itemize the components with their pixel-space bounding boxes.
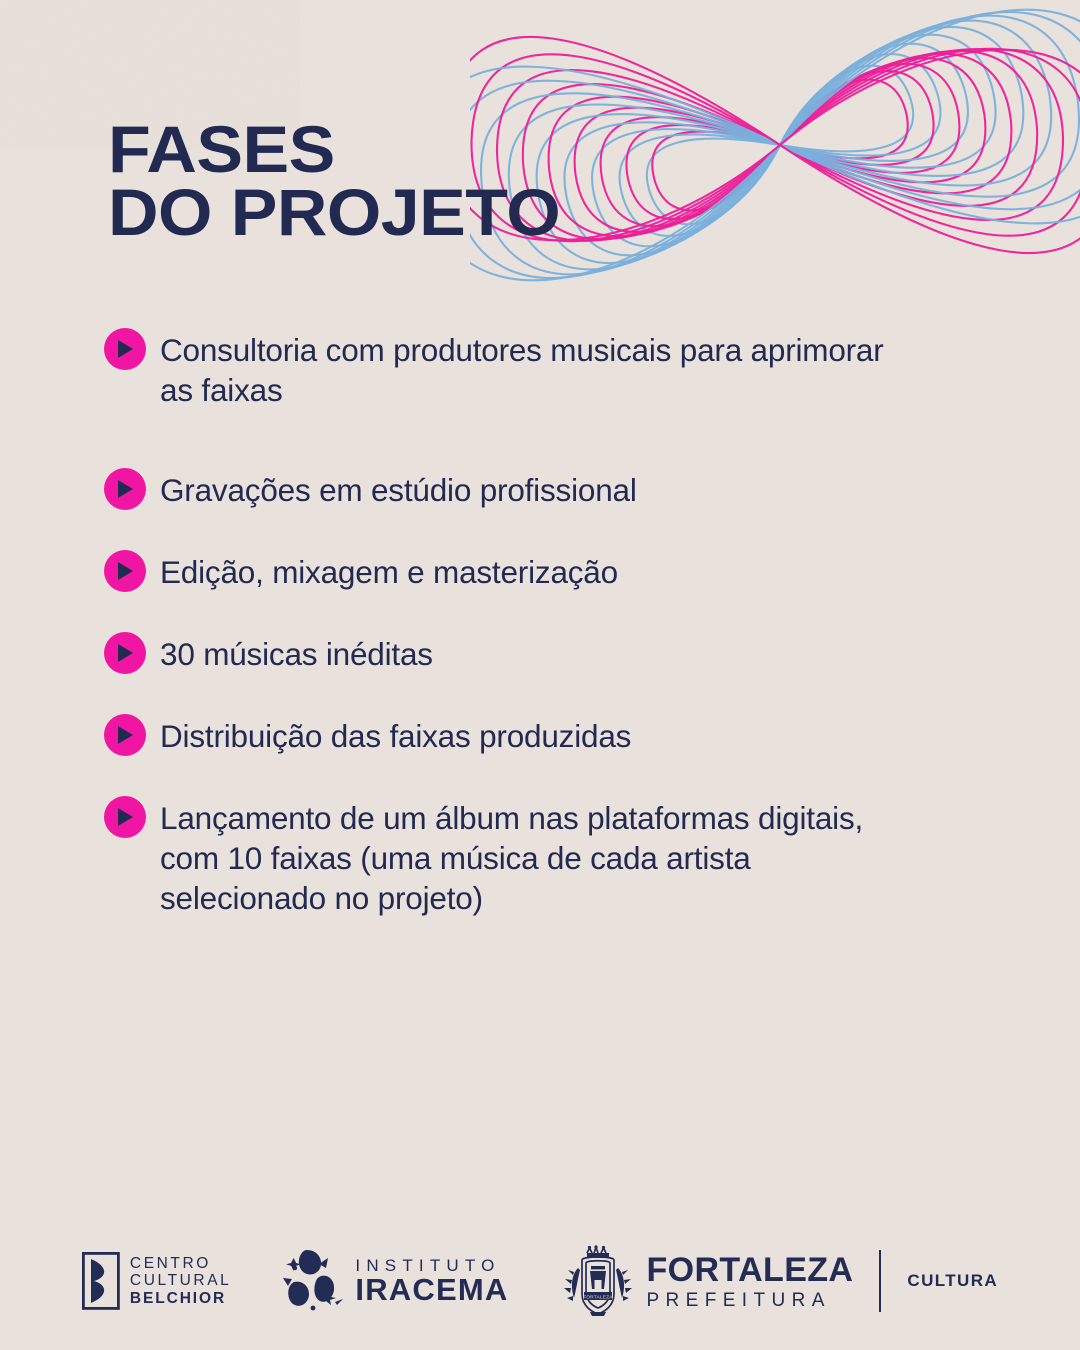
logo-instituto-iracema: INSTITUTO IRACEMA (283, 1246, 508, 1316)
phase-item[interactable]: Gravações em estúdio profissional (104, 466, 894, 510)
page-title: FASES DO PROJETO (108, 118, 535, 245)
phase-item[interactable]: Edição, mixagem e masterização (104, 548, 894, 592)
fortaleza-line-1: FORTALEZA (646, 1253, 853, 1287)
belchior-b-monogram-icon (82, 1252, 120, 1310)
phase-label: Edição, mixagem e masterização (160, 548, 618, 592)
footer-logos: CENTRO CULTURAL BELCHIOR (0, 1242, 1080, 1320)
phase-item[interactable]: Lançamento de um álbum nas plataformas d… (104, 794, 894, 918)
play-triangle-icon (104, 796, 146, 838)
play-triangle-icon (104, 714, 146, 756)
svg-text:FORTALEZA: FORTALEZA (584, 1294, 614, 1299)
phase-label: Consultoria com produtores musicais para… (160, 326, 894, 410)
title-line-1: FASES (108, 118, 560, 181)
fortaleza-coat-of-arms-icon: FORTALEZA (560, 1242, 636, 1320)
iracema-line-2: IRACEMA (355, 1274, 508, 1306)
phase-label: Gravações em estúdio profissional (160, 466, 637, 510)
play-triangle-icon (104, 632, 146, 674)
title-line-2: DO PROJETO (108, 181, 560, 244)
phase-list: Consultoria com produtores musicais para… (104, 326, 894, 918)
phase-label: Distribuição das faixas produzidas (160, 712, 631, 756)
phases-timeline: Consultoria com produtores musicais para… (104, 326, 894, 918)
play-triangle-icon (104, 550, 146, 592)
belchior-line-1: CENTRO (130, 1255, 231, 1272)
phase-item[interactable]: 30 músicas inéditas (104, 630, 894, 674)
cultura-label: CULTURA (907, 1271, 998, 1291)
play-triangle-icon (104, 468, 146, 510)
poster-canvas: FASES DO PROJETO Consultoria com produto… (0, 0, 1080, 1350)
phase-label: 30 músicas inéditas (160, 630, 433, 674)
phase-label: Lançamento de um álbum nas plataformas d… (160, 794, 894, 918)
belchior-line-3: BELCHIOR (130, 1290, 231, 1307)
logo-centro-cultural-belchior: CENTRO CULTURAL BELCHIOR (82, 1252, 231, 1310)
phase-item[interactable]: Consultoria com produtores musicais para… (104, 326, 894, 410)
logo-fortaleza-prefeitura: FORTALEZA FORTALEZA PREFEITURA CULTURA (560, 1242, 998, 1320)
phase-item[interactable]: Distribuição das faixas produzidas (104, 712, 894, 756)
play-triangle-icon (104, 328, 146, 370)
belchior-line-2: CULTURAL (130, 1272, 231, 1289)
fortaleza-line-2: PREFEITURA (646, 1291, 853, 1310)
iracema-fish-leaf-icon (283, 1246, 345, 1316)
logo-divider (879, 1250, 881, 1312)
